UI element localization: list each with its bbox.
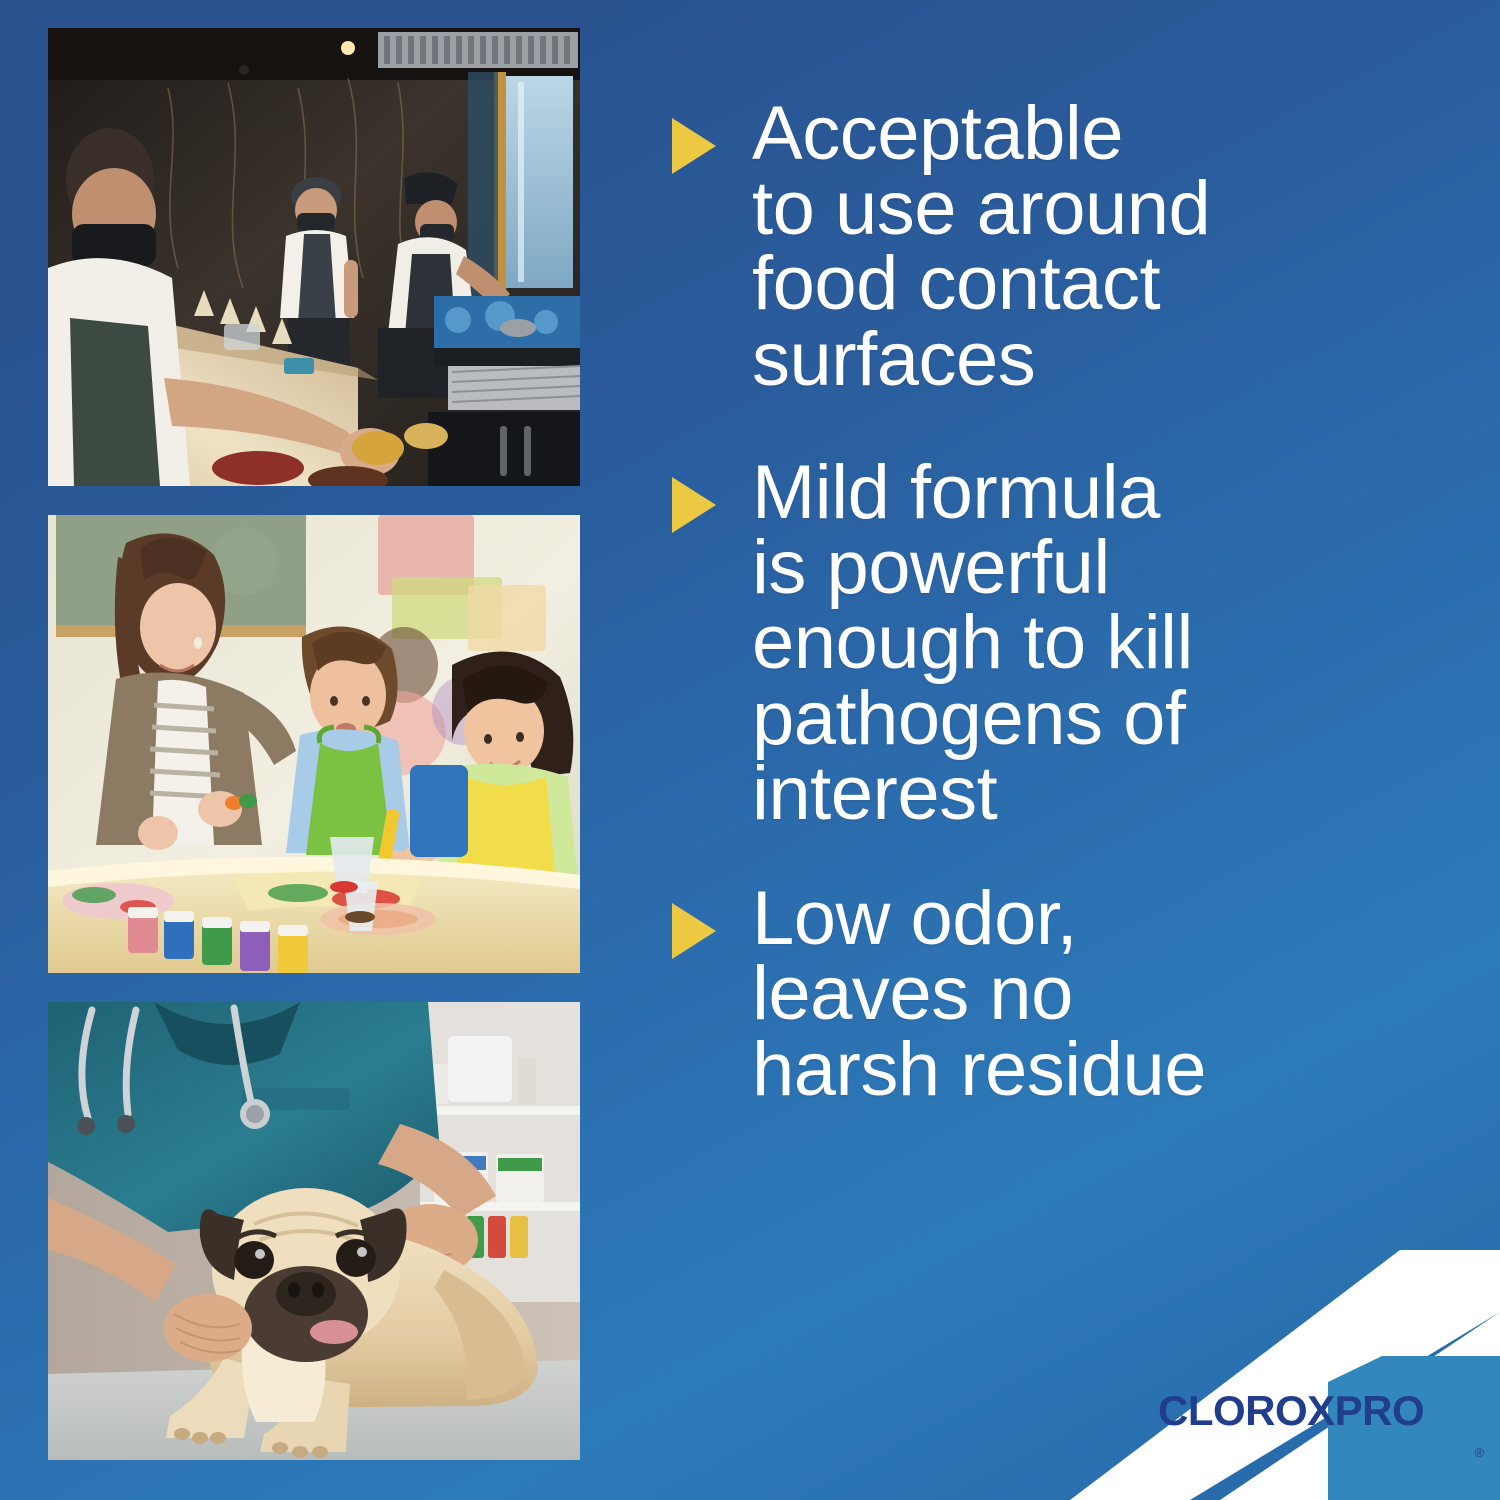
benefit-text-2: Mild formula is powerful enough to kill … (752, 455, 1468, 831)
restaurant-kitchen-photo (48, 28, 580, 486)
promo-graphic: Acceptable to use around food contact su… (0, 0, 1500, 1500)
classroom-photo (48, 515, 580, 973)
registered-trademark-icon: ® (1474, 1445, 1484, 1460)
benefit-text-3: Low odor, leaves no harsh residue (752, 881, 1468, 1107)
photo-column (48, 28, 580, 1460)
triangle-bullet-icon (672, 118, 716, 174)
triangle-bullet-icon (672, 477, 716, 533)
benefit-text-1: Acceptable to use around food contact su… (752, 96, 1468, 397)
cloroxpro-logo: CLOROX PRO ® (1070, 1250, 1500, 1500)
benefits-list: Acceptable to use around food contact su… (668, 96, 1468, 1326)
logo-clorox-text: CLOROX (1158, 1390, 1335, 1432)
benefit-item-2: Mild formula is powerful enough to kill … (668, 455, 1468, 831)
logo-pro-text: PRO (1335, 1390, 1425, 1432)
benefit-item-3: Low odor, leaves no harsh residue (668, 881, 1468, 1107)
benefit-item-1: Acceptable to use around food contact su… (668, 96, 1468, 397)
triangle-bullet-icon (672, 903, 716, 959)
cloroxpro-wordmark: CLOROX PRO (1158, 1390, 1424, 1432)
veterinary-photo (48, 1002, 580, 1460)
